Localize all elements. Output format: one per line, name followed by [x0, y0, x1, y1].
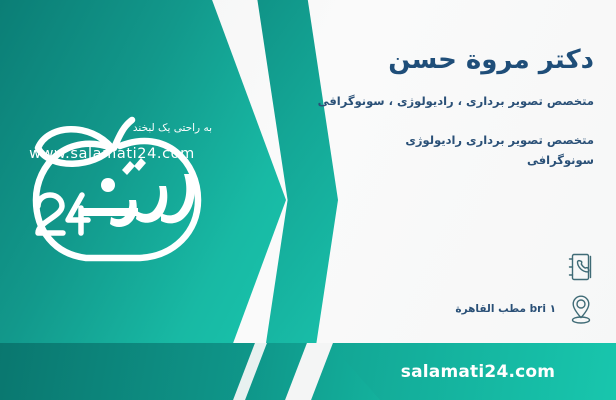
doctor-specialty-block-line2: سونوگرافی	[234, 150, 594, 170]
contact-row-address[interactable]: bri ۱ مطب القاهرة	[218, 288, 598, 330]
brand-wordmark	[80, 158, 195, 227]
doctor-specialty-line: متخصص تصویر برداری ، رادیولوژی ، سونوگرا…	[234, 93, 594, 110]
doctor-name: دکتر مروة حسن	[234, 44, 594, 77]
doctor-specialty-block: متخصص تصویر برداری رادیولوژی سونوگرافی	[234, 130, 594, 170]
contact-row-phone[interactable]	[218, 246, 598, 288]
location-pin-icon	[564, 290, 598, 328]
badge-24	[38, 195, 88, 233]
business-card: به راحتی یک لبخند www.salamati24.com دکت…	[0, 0, 616, 400]
logo-website-url[interactable]: www.salamati24.com	[12, 146, 212, 162]
footer-website[interactable]: salamati24.com	[340, 343, 616, 400]
doctor-specialty-block-line1: متخصص تصویر برداری رادیولوژی	[234, 130, 594, 150]
contact-address-text: bri ۱ مطب القاهرة	[455, 303, 556, 315]
doctor-info: دکتر مروة حسن متخصص تصویر برداری ، رادیو…	[234, 0, 594, 170]
contact-list: bri ۱ مطب القاهرة	[218, 246, 598, 330]
phone-book-icon	[564, 248, 598, 286]
logo-tagline: به راحتی یک لبخند	[96, 122, 212, 134]
